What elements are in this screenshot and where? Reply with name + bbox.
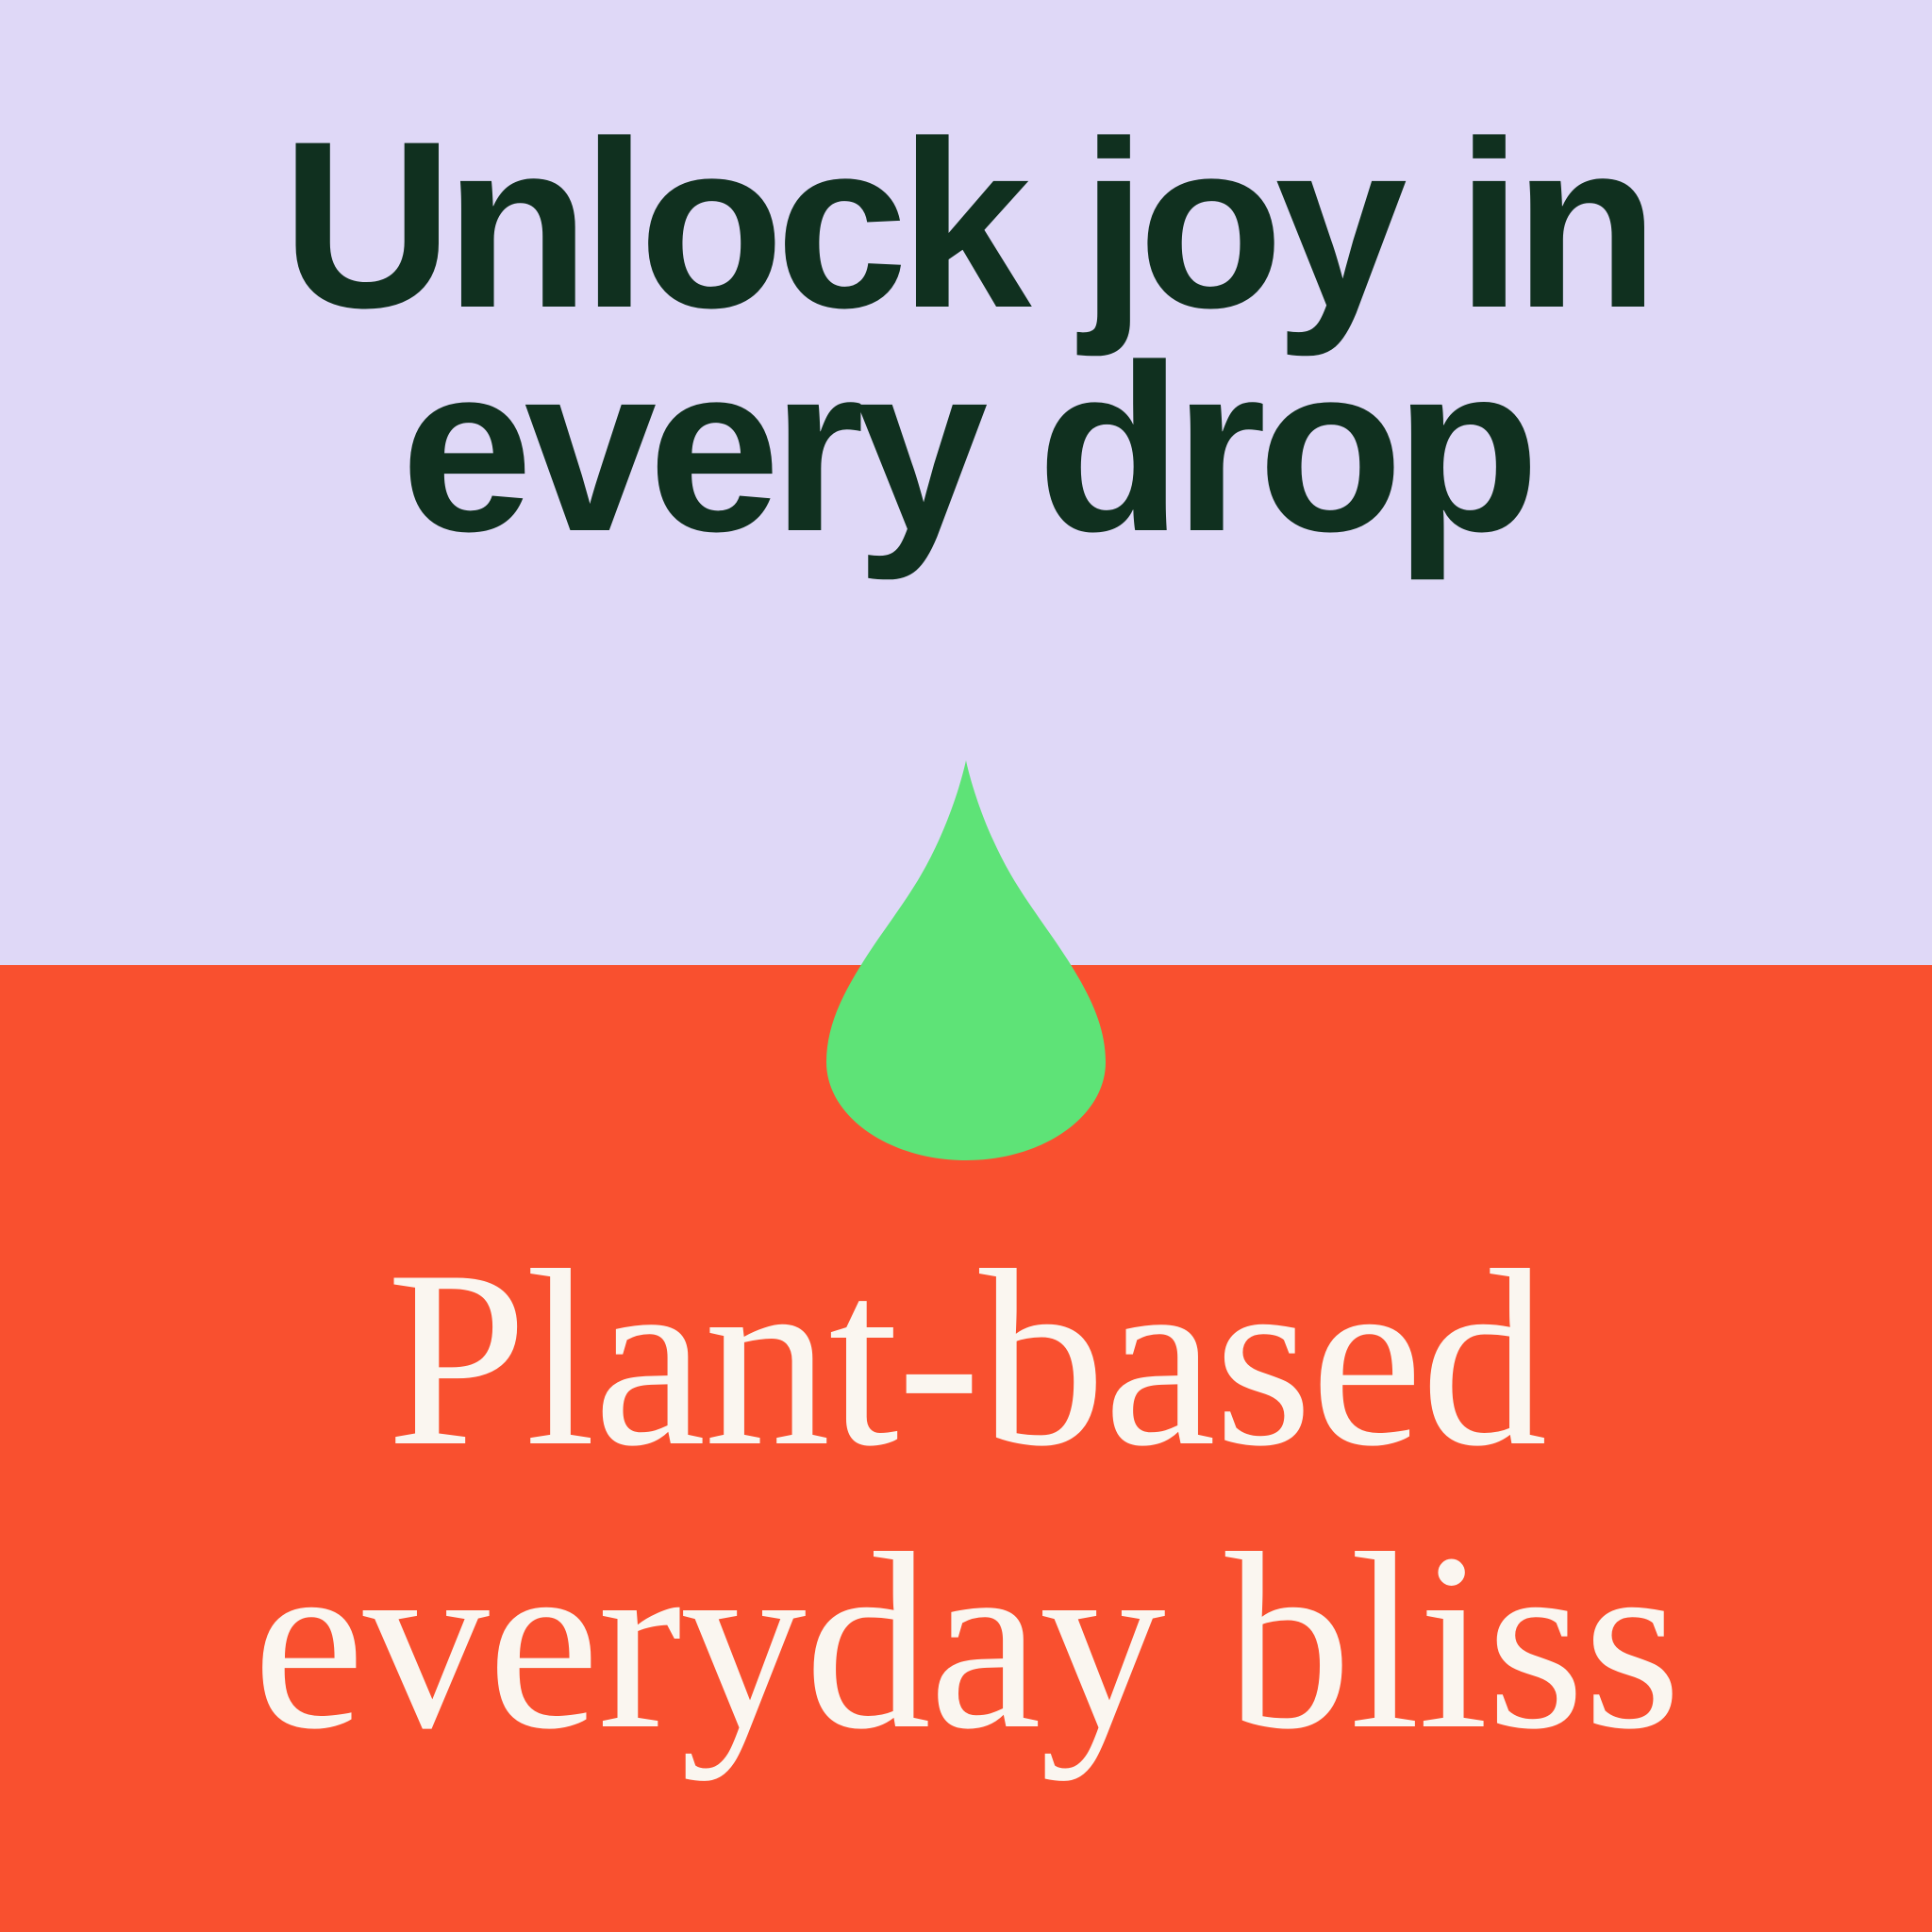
subheadline-line-2: everyday bliss xyxy=(0,1500,1932,1783)
water-drop-icon xyxy=(826,760,1106,1160)
headline-line-1: Unlock joy in xyxy=(0,113,1932,337)
poster-canvas: Unlock joy in every drop Plant-based eve… xyxy=(0,0,1932,1932)
subheadline: Plant-based everyday bliss xyxy=(0,1217,1932,1783)
headline: Unlock joy in every drop xyxy=(0,113,1932,560)
subheadline-line-1: Plant-based xyxy=(0,1217,1932,1500)
headline-line-2: every drop xyxy=(0,337,1932,560)
